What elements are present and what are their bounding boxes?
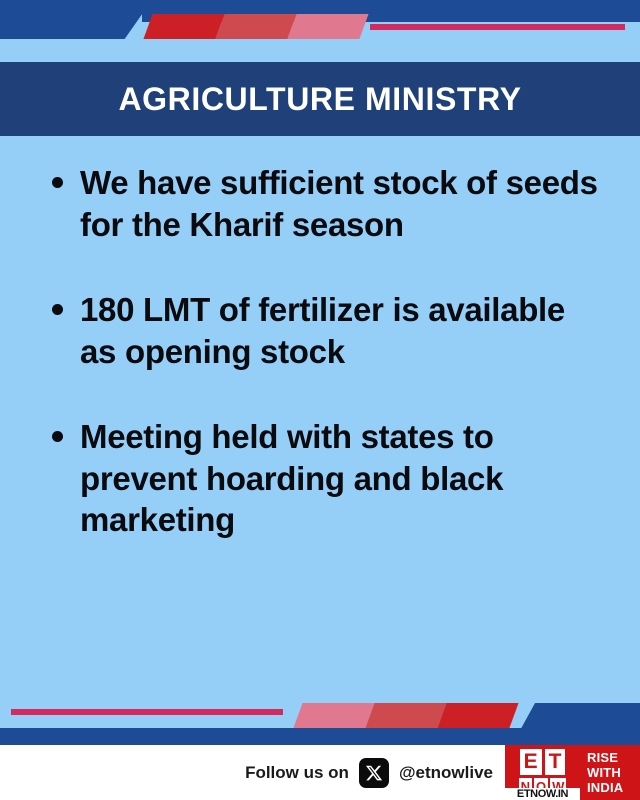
bullet-list: We have sufficient stock of seeds for th… [40, 162, 604, 541]
header-banner: AGRICULTURE MINISTRY [0, 62, 640, 136]
bottom-red-ribbon [293, 703, 518, 728]
list-item: Meeting held with states to prevent hoar… [40, 416, 604, 542]
top-red-ribbon [143, 14, 368, 39]
page-title: AGRICULTURE MINISTRY [118, 81, 521, 118]
logo-et-row: E T [520, 749, 566, 775]
logo-tagline: RISE WITH INDIA [580, 745, 640, 800]
content-area: We have sufficient stock of seeds for th… [0, 136, 640, 692]
bottom-navy-right-shape [512, 703, 640, 745]
ribbon-segment-mid-red [365, 703, 446, 728]
follow-us-group: Follow us on @etnowlive [245, 758, 493, 788]
footer-bar: Follow us on @etnowlive E T N O W ETNOW [0, 745, 640, 800]
logo-letter-t: T [545, 749, 566, 775]
top-crimson-line [370, 24, 625, 30]
x-twitter-icon[interactable] [359, 758, 389, 788]
news-card: AGRICULTURE MINISTRY We have sufficient … [0, 0, 640, 800]
list-item: 180 LMT of fertilizer is available as op… [40, 289, 604, 373]
social-handle[interactable]: @etnowlive [399, 763, 493, 783]
tagline-line-2: WITH [587, 765, 621, 780]
bottom-crimson-line [11, 709, 283, 715]
top-decorative-bar [0, 0, 640, 62]
bottom-decorative-bar [0, 692, 640, 745]
ribbon-segment-pink [287, 14, 368, 39]
ribbon-segment-dark-red [437, 703, 518, 728]
follow-us-label: Follow us on [245, 763, 349, 783]
list-item: We have sufficient stock of seeds for th… [40, 162, 604, 246]
etnow-logo-mark: E T N O W ETNOW.IN [505, 745, 580, 800]
etnow-logo[interactable]: E T N O W ETNOW.IN RISE WITH INDIA [505, 745, 640, 800]
tagline-line-1: RISE [587, 750, 618, 765]
ribbon-segment-dark-red [143, 14, 224, 39]
ribbon-segment-pink [293, 703, 374, 728]
top-navy-left-shape [0, 0, 152, 39]
ribbon-segment-mid-red [215, 14, 296, 39]
logo-website-url: ETNOW.IN [505, 788, 580, 800]
logo-letter-e: E [520, 749, 542, 775]
bottom-navy-strip [0, 728, 530, 745]
tagline-line-3: INDIA [587, 780, 623, 795]
